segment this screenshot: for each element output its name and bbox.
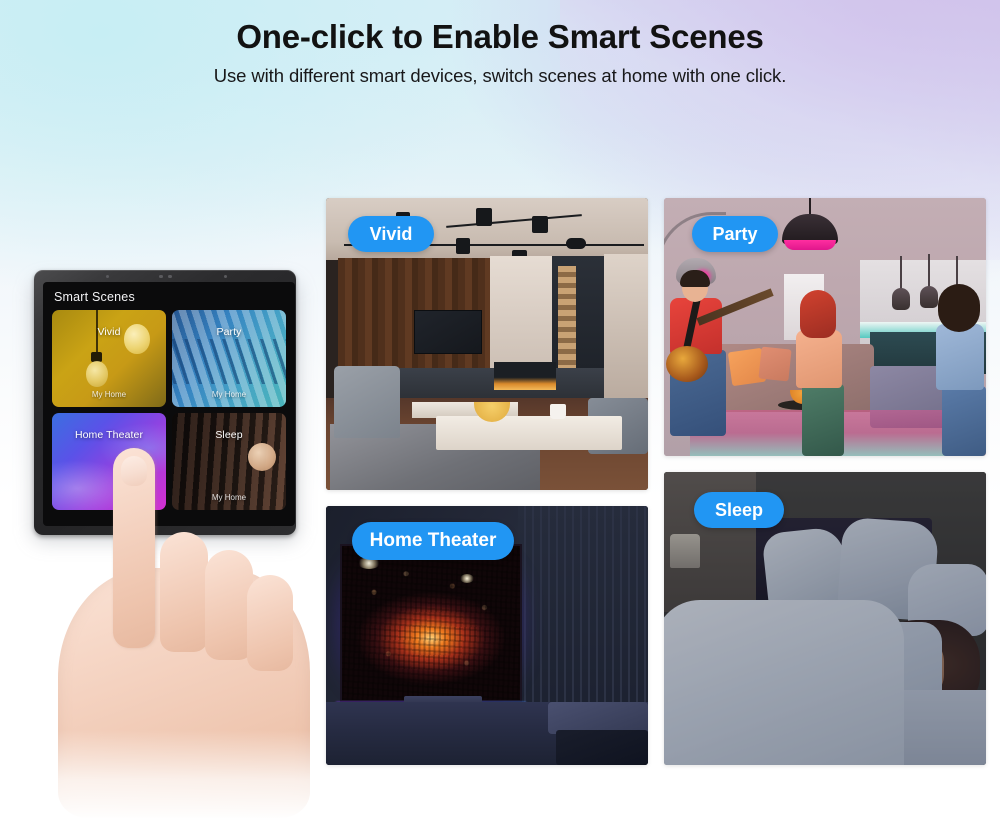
page-subtitle: Use with different smart devices, switch… — [0, 60, 1000, 92]
dancer-two-top — [936, 324, 984, 390]
scene-tile-label: Home Theater — [52, 429, 166, 441]
dancer-one-top — [796, 330, 842, 388]
moon-icon — [248, 443, 276, 471]
electric-guitar — [666, 346, 708, 382]
stage-spotlight-icon — [460, 574, 474, 583]
television — [414, 310, 482, 354]
scene-photo-home-theater[interactable]: Home Theater — [326, 506, 648, 765]
spotlight-icon — [532, 216, 548, 233]
slat-wall-panel — [518, 506, 648, 716]
dancer-two-hair — [938, 284, 980, 332]
pendant-lamp-icon — [892, 288, 910, 310]
spotlight-icon — [476, 208, 492, 226]
scene-tile-vivid[interactable]: Vivid My Home — [52, 310, 166, 407]
scene-tile-label: Sleep — [172, 429, 286, 441]
coffee-table — [556, 730, 648, 765]
scene-photo-vivid[interactable]: Vivid — [326, 198, 648, 490]
scene-tile-home: My Home — [172, 390, 286, 399]
dancer-one-hair — [800, 290, 836, 338]
coffee-table — [436, 416, 622, 450]
pendant-cord — [900, 256, 902, 290]
piano-keys-art — [172, 339, 286, 384]
pendant-cord — [928, 254, 930, 288]
header: One-click to Enable Smart Scenes Use wit… — [0, 14, 1000, 92]
device-bezel: Smart Scenes Vivid My Home Party My Home — [34, 270, 296, 535]
scene-badge-home-theater[interactable]: Home Theater — [352, 522, 514, 560]
dancer-one-legs — [802, 384, 844, 456]
scene-tile-home: My Home — [172, 493, 286, 502]
guitarist-hair — [680, 270, 710, 287]
scene-tile-label: Vivid — [52, 326, 166, 338]
scene-tile-home: My Home — [52, 390, 166, 399]
sensor-dot-icon — [168, 275, 172, 278]
scene-badge-party[interactable]: Party — [692, 216, 778, 252]
spotlight-icon — [456, 238, 470, 254]
scene-tile-sleep[interactable]: Sleep My Home — [172, 413, 286, 510]
scene-photo-party[interactable]: Party — [664, 198, 986, 456]
fireplace — [494, 362, 556, 390]
scene-tile-home-theater[interactable]: Home Theater — [52, 413, 166, 510]
dancer-two-legs — [942, 386, 986, 456]
scene-tile-grid: Vivid My Home Party My Home Home Theater — [52, 310, 286, 510]
scene-photo-sleep[interactable]: Sleep — [664, 472, 986, 765]
concert-crowd-texture — [342, 546, 520, 700]
armchair — [334, 366, 400, 438]
light-bulb-icon — [86, 361, 108, 387]
hallway — [604, 254, 648, 404]
cushion — [758, 347, 791, 382]
scene-badge-vivid[interactable]: Vivid — [348, 216, 434, 252]
device-screen[interactable]: Smart Scenes Vivid My Home Party My Home — [43, 282, 295, 526]
page-title: One-click to Enable Smart Scenes — [0, 14, 1000, 60]
gradient-art — [52, 413, 166, 510]
plaster-wall — [490, 256, 552, 368]
firewood-stack — [558, 266, 576, 378]
scene-tile-party[interactable]: Party My Home — [172, 310, 286, 407]
projection-screen — [340, 544, 522, 702]
sensor-dot-icon — [159, 275, 163, 278]
spotlight-icon — [566, 238, 586, 249]
pendant-lamp-icon — [920, 286, 938, 308]
sensor-dot-icon — [224, 275, 227, 278]
smart-wall-panel[interactable]: Smart Scenes Vivid My Home Party My Home — [30, 270, 300, 545]
scene-tile-label: Party — [172, 326, 286, 338]
coffee-cup — [550, 404, 566, 419]
scene-badge-sleep[interactable]: Sleep — [694, 492, 784, 528]
screen-title: Smart Scenes — [54, 290, 135, 304]
pink-light-glow — [784, 240, 836, 250]
sensor-dot-icon — [106, 275, 109, 278]
